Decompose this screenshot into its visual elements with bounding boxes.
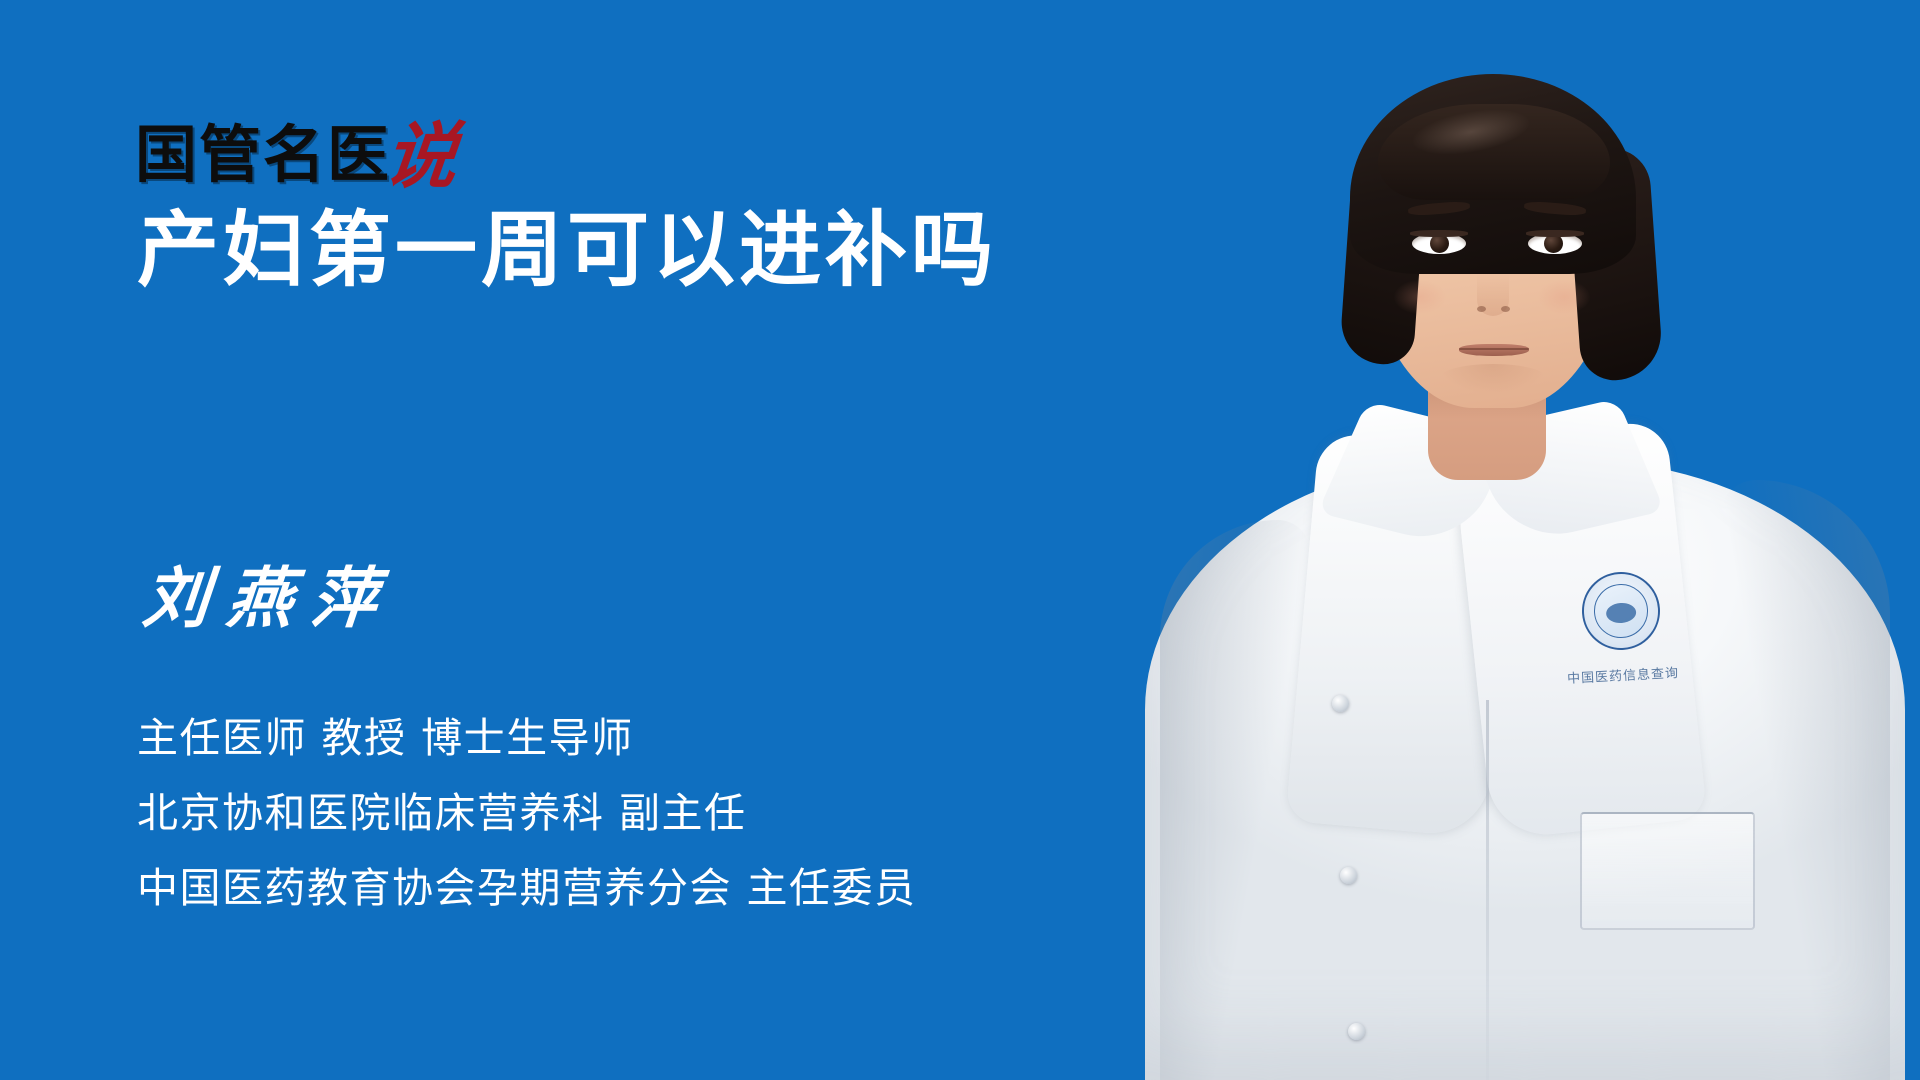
page-title: 产妇第一周可以进补吗 <box>137 205 997 297</box>
eyelid-right <box>1526 230 1584 237</box>
lab-coat-shadow-right <box>1720 480 1890 1080</box>
coat-pocket <box>1580 812 1755 930</box>
brand-logo: 国管名医 说 <box>135 100 457 186</box>
coat-button-2 <box>1340 867 1357 884</box>
cheek-left <box>1394 280 1446 314</box>
credential-line-3: 中国医药教育协会孕期营养分会 主任委员 <box>137 868 917 909</box>
speaker-portrait: 中国医药信息查询 <box>1040 0 1920 1080</box>
poster-canvas: 国管名医 说 产妇第一周可以进补吗 刘燕萍 主任医师 教授 博士生导师 北京协和… <box>0 0 1920 1080</box>
cheek-right <box>1538 280 1590 314</box>
brand-logo-accent-text: 说 <box>381 120 461 192</box>
text-column: 国管名医 说 产妇第一周可以进补吗 刘燕萍 主任医师 教授 博士生导师 北京协和… <box>135 0 1195 1080</box>
credential-line-2: 北京协和医院临床营养科 副主任 <box>137 793 917 834</box>
chest-emblem-icon <box>1579 569 1662 652</box>
speaker-name: 刘燕萍 <box>140 565 398 631</box>
nostril-right <box>1501 306 1510 312</box>
credential-line-1: 主任医师 教授 博士生导师 <box>137 718 917 759</box>
speaker-credentials: 主任医师 教授 博士生导师 北京协和医院临床营养科 副主任 中国医药教育协会孕期… <box>137 718 917 909</box>
eyelid-left <box>1410 230 1468 237</box>
lab-coat-shadow-left <box>1160 520 1310 1080</box>
chin-shadow <box>1438 364 1548 394</box>
coat-center-seam <box>1486 700 1489 1080</box>
nostril-left <box>1477 306 1486 312</box>
mouth <box>1459 344 1529 356</box>
coat-button-1 <box>1332 695 1349 712</box>
mouth-line <box>1459 348 1529 350</box>
coat-button-3 <box>1348 1023 1365 1040</box>
brand-logo-main-text: 国管名医 <box>135 124 391 186</box>
